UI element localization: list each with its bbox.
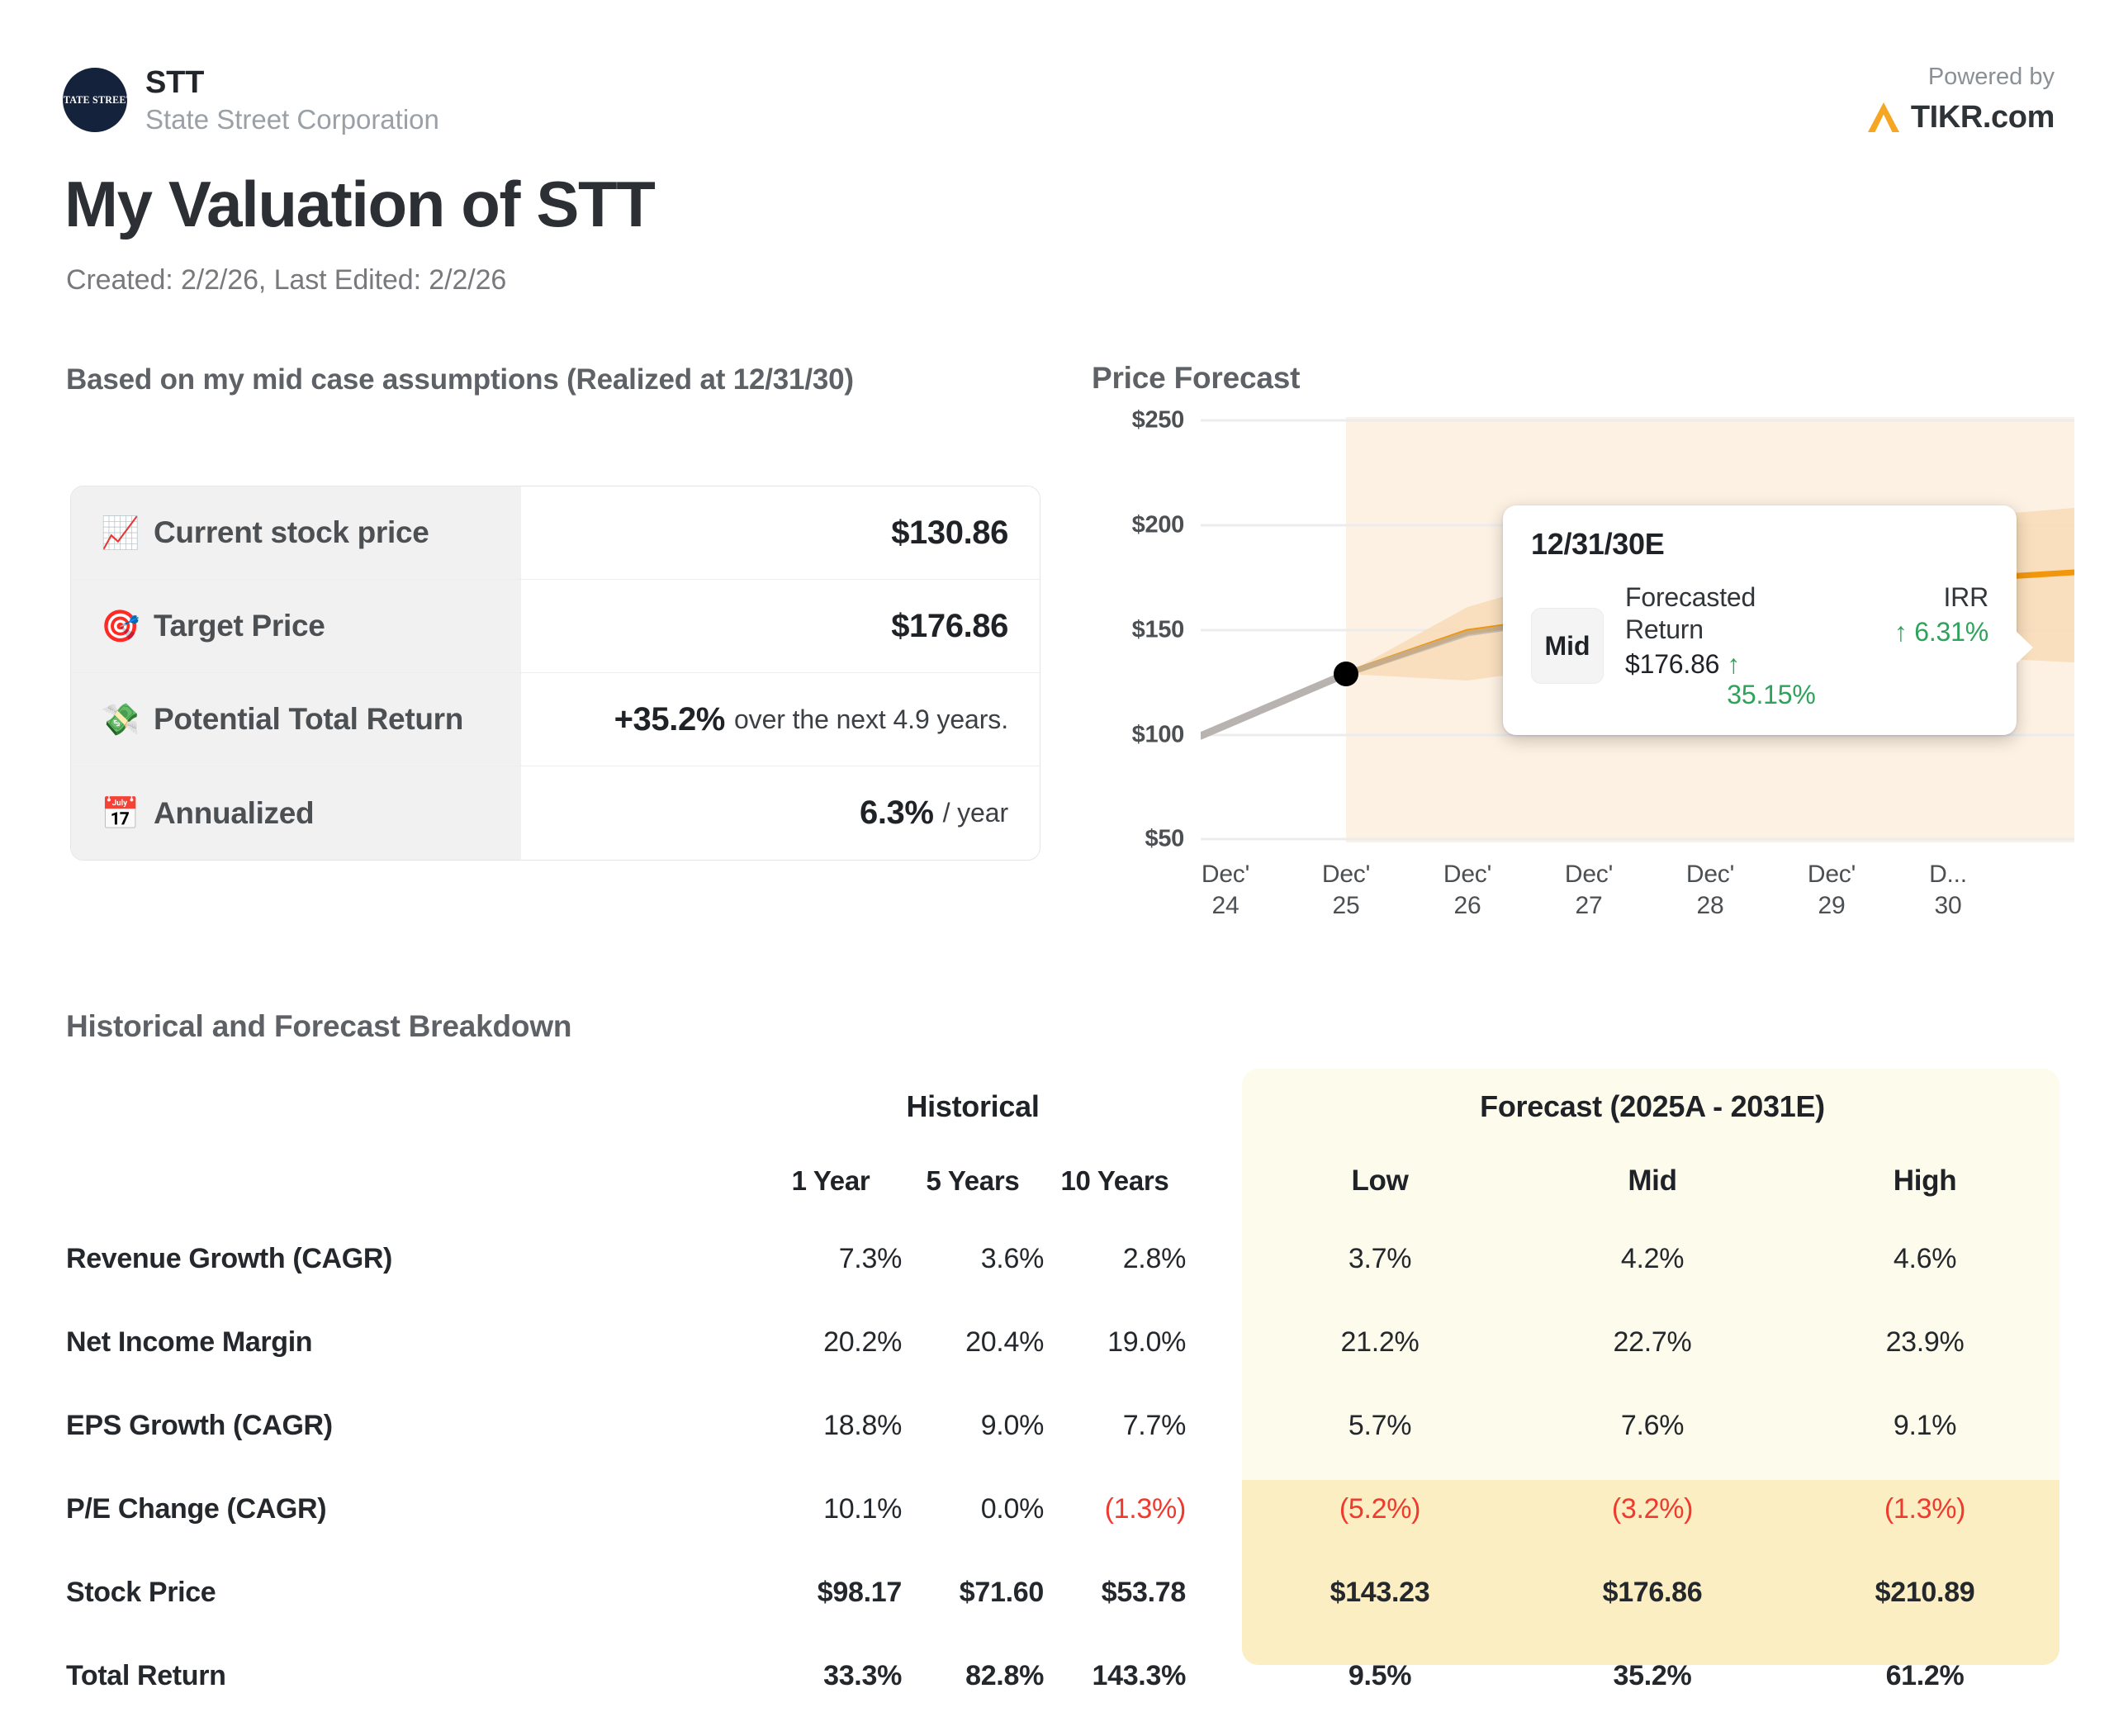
table-gap-cell: [1186, 1301, 1244, 1384]
historical-cell: 9.0%: [902, 1384, 1044, 1468]
chart-tooltip: 12/31/30E Mid Forecasted Return $176.86 …: [1503, 505, 2017, 735]
company-name: State Street Corporation: [145, 103, 439, 136]
table-row: Revenue Growth (CAGR)7.3%3.6%2.8%3.7%4.2…: [66, 1217, 2061, 1301]
historical-cell: 20.2%: [760, 1301, 902, 1384]
tooltip-target-price: $176.86: [1625, 649, 1719, 680]
historical-cell: 12.8%: [902, 1718, 1044, 1736]
valuation-report-page: STATE STREET STT State Street Corporatio…: [0, 0, 2114, 1736]
forecast-column-header: Low: [1244, 1145, 1516, 1217]
forecast-cell: 9.5%: [1244, 1634, 1516, 1718]
chart-x-tick: Dec'26: [1443, 859, 1491, 923]
chart-x-tick: D...30: [1929, 859, 1967, 923]
chart-x-tick: Dec'24: [1202, 859, 1249, 923]
breakdown-table: HistoricalForecast (2025A - 2031E)1 Year…: [66, 1069, 2061, 1736]
historical-cell: 10.1%: [760, 1468, 902, 1551]
row-label: P/E Change (CAGR): [66, 1468, 760, 1551]
forecast-cell: (3.2%): [1516, 1468, 1789, 1551]
historical-cell: 3.6%: [902, 1217, 1044, 1301]
valuation-row-value: 6.3%: [860, 794, 934, 832]
chart-x-tick-top: D...: [1929, 859, 1967, 890]
chart-y-tick: $200: [1132, 512, 1184, 539]
table-gap-cell: [1186, 1634, 1244, 1718]
tooltip-return-label: Forecasted Return: [1625, 581, 1833, 646]
chart-x-tick-top: Dec': [1686, 859, 1734, 890]
chart-x-tick-bottom: 24: [1202, 890, 1249, 922]
chart-x-tick: Dec'29: [1808, 859, 1856, 923]
forecast-cell: 7.6%: [1516, 1384, 1789, 1468]
historical-cell: 143.3%: [1044, 1634, 1186, 1718]
table-group-header-row: HistoricalForecast (2025A - 2031E): [66, 1069, 2061, 1145]
table-row: EPS Growth (CAGR)18.8%9.0%7.7%5.7%7.6%9.…: [66, 1384, 2061, 1468]
tooltip-irr: IRR ↑ 6.31%: [1833, 581, 1992, 710]
chart-x-tick: Dec'27: [1565, 859, 1613, 923]
historical-cell: (1.3%): [1044, 1468, 1186, 1551]
table-gap-cell: [1186, 1551, 1244, 1634]
valuation-row-value: $130.86: [891, 515, 1008, 552]
table-gap-cell: [1186, 1217, 1244, 1301]
historical-price-line: [1201, 674, 1346, 736]
forecast-column-header: Mid: [1516, 1145, 1789, 1217]
table-gap-cell: [1186, 1468, 1244, 1551]
table-row: Net Income Margin20.2%20.4%19.0%21.2%22.…: [66, 1301, 2061, 1384]
tooltip-return-pct: ↑ 35.15%: [1727, 649, 1833, 710]
price-forecast-heading: Price Forecast: [1092, 361, 1300, 396]
chart-y-tick: $100: [1132, 722, 1184, 749]
valuation-row: 📅Annualized6.3%/ year: [71, 766, 1040, 860]
table-row: P/E Change (CAGR)10.1%0.0%(1.3%)(5.2%)(3…: [66, 1468, 2061, 1551]
valuation-row-label-cell: 📈Current stock price: [71, 486, 521, 579]
historical-cell: 7.3%: [760, 1217, 902, 1301]
tikr-brand-name: TIKR.com: [1911, 100, 2055, 135]
historical-cell: 18.8%: [760, 1384, 902, 1468]
chart-x-tick-top: Dec': [1202, 859, 1249, 890]
chart-y-tick: $50: [1145, 826, 1185, 853]
forecast-cell: 4.6%: [1789, 1217, 2061, 1301]
table-corner-cell: [66, 1069, 760, 1145]
table-gap-cell: [1186, 1718, 1244, 1736]
company-logo-text: STATE STREET: [63, 94, 127, 106]
chart-x-tick-bottom: 28: [1686, 890, 1734, 922]
historical-column-header: 10 Years: [1044, 1145, 1186, 1217]
row-label: EPS Growth (CAGR): [66, 1384, 760, 1468]
tooltip-metrics: Forecasted Return $176.86 ↑ 35.15% IRR ↑…: [1625, 581, 1992, 710]
valuation-row-value-cell: +35.2%over the next 4.9 years.: [521, 673, 1040, 766]
valuation-row: 💸Potential Total Return+35.2%over the ne…: [71, 673, 1040, 766]
forecast-cell: 5.7%: [1244, 1384, 1516, 1468]
chart-x-tick-bottom: 25: [1322, 890, 1370, 922]
forecast-cell: 21.2%: [1244, 1301, 1516, 1384]
table-row: Stock Price$98.17$71.60$53.78$143.23$176…: [66, 1551, 2061, 1634]
historical-cell: 20.4%: [902, 1301, 1044, 1384]
powered-by-block: Powered by TIKR.com: [1866, 64, 2055, 135]
historical-cell: $71.60: [902, 1551, 1044, 1634]
historical-cell: $98.17: [760, 1551, 902, 1634]
chart-y-tick: $250: [1132, 407, 1184, 434]
tooltip-case-badge: Mid: [1531, 608, 1604, 684]
chart-x-axis: Dec'24Dec'25Dec'26Dec'27Dec'28Dec'29D...…: [1201, 859, 2074, 950]
valuation-row-suffix: over the next 4.9 years.: [734, 704, 1008, 735]
historical-cell: 0.0%: [902, 1468, 1044, 1551]
chart-x-tick-top: Dec': [1808, 859, 1856, 890]
forecast-cell: 9.1%: [1789, 1384, 2061, 1468]
forecast-column-header: High: [1789, 1145, 2061, 1217]
valuation-row-label: Potential Total Return: [154, 702, 463, 737]
chart-x-tick-top: Dec': [1322, 859, 1370, 890]
chart-x-tick-bottom: 30: [1929, 890, 1967, 922]
forecast-cell: 10.2%: [1789, 1718, 2061, 1736]
chart-y-axis: $250$200$150$100$50: [1092, 417, 1184, 842]
historical-cell: 82.8%: [902, 1634, 1044, 1718]
row-label: Total Return: [66, 1634, 760, 1718]
tooltip-body: Mid Forecasted Return $176.86 ↑ 35.15% I…: [1531, 581, 1992, 710]
historical-column-header: 5 Years: [902, 1145, 1044, 1217]
valuation-row-value-cell: 6.3%/ year: [521, 766, 1040, 860]
historical-cell: 9.3%: [1044, 1718, 1186, 1736]
historical-cell: $53.78: [1044, 1551, 1186, 1634]
forecast-cell: 4.2%: [1516, 1217, 1789, 1301]
historical-column-header: 1 Year: [760, 1145, 902, 1217]
valuation-row-label: Annualized: [154, 796, 314, 831]
forecast-cell: 22.7%: [1516, 1301, 1789, 1384]
tooltip-irr-label: IRR: [1943, 581, 1988, 614]
table-gap-cell: [1186, 1069, 1244, 1145]
valuation-row: 📈Current stock price$130.86: [71, 486, 1040, 580]
assumptions-heading: Based on my mid case assumptions (Realiz…: [66, 363, 854, 396]
forecast-cell: $210.89: [1789, 1551, 2061, 1634]
valuation-row-suffix: / year: [943, 798, 1008, 828]
table-gap-cell: [1186, 1384, 1244, 1468]
chart-x-tick-bottom: 27: [1565, 890, 1613, 922]
valuation-summary-card: 📈Current stock price$130.86🎯Target Price…: [70, 486, 1040, 861]
historical-cell: 2.8%: [1044, 1217, 1186, 1301]
forecast-cell: 6.3%: [1516, 1718, 1789, 1736]
forecast-cell: 61.2%: [1789, 1634, 2061, 1718]
table-row: IRR (Annual Return)33.3%12.8%9.3%1.9%6.3…: [66, 1718, 2061, 1736]
forecast-cell: $176.86: [1516, 1551, 1789, 1634]
ticker-symbol: STT: [145, 64, 439, 102]
valuation-row: 🎯Target Price$176.86: [71, 580, 1040, 673]
current-price-marker: [1334, 662, 1358, 686]
valuation-row-value-cell: $130.86: [521, 486, 1040, 579]
chart-x-tick-top: Dec': [1443, 859, 1491, 890]
target-icon: 🎯: [101, 610, 137, 642]
table-row: Total Return33.3%82.8%143.3%9.5%35.2%61.…: [66, 1634, 2061, 1718]
forecast-cell: $143.23: [1244, 1551, 1516, 1634]
chart-increasing-icon: 📈: [101, 517, 137, 548]
tikr-logo-icon: [1866, 101, 1901, 134]
table-subheader-row: 1 Year5 Years10 YearsLowMidHigh: [66, 1145, 2061, 1217]
money-with-wings-icon: 💸: [101, 704, 137, 735]
breakdown-table-wrap: HistoricalForecast (2025A - 2031E)1 Year…: [66, 1069, 2059, 1736]
valuation-row-label-cell: 💸Potential Total Return: [71, 673, 521, 766]
forecast-group-header: Forecast (2025A - 2031E): [1244, 1069, 2061, 1145]
chart-y-tick: $150: [1132, 617, 1184, 644]
historical-cell: 7.7%: [1044, 1384, 1186, 1468]
page-title: My Valuation of STT: [64, 172, 654, 236]
company-name-block: STT State Street Corporation: [145, 64, 439, 135]
row-label: Revenue Growth (CAGR): [66, 1217, 760, 1301]
table-gap-cell: [1186, 1145, 1244, 1217]
forecast-cell: 1.9%: [1244, 1718, 1516, 1736]
valuation-row-label: Current stock price: [154, 515, 429, 550]
tooltip-irr-values: ↑ 6.31%: [1894, 617, 1988, 647]
historical-cell: 19.0%: [1044, 1301, 1186, 1384]
row-label: Stock Price: [66, 1551, 760, 1634]
tooltip-return-values: $176.86 ↑ 35.15%: [1625, 649, 1833, 710]
valuation-row-value: $176.86: [891, 608, 1008, 645]
historical-cell: 33.3%: [760, 1634, 902, 1718]
row-label: IRR (Annual Return): [66, 1718, 760, 1736]
valuation-row-value: +35.2%: [614, 701, 725, 738]
historical-group-header: Historical: [760, 1069, 1186, 1145]
calendar-icon: 📅: [101, 798, 137, 829]
table-corner-cell: [66, 1145, 760, 1217]
valuation-row-label-cell: 📅Annualized: [71, 766, 521, 860]
chart-x-tick-bottom: 29: [1808, 890, 1856, 922]
page-subtitle: Created: 2/2/26, Last Edited: 2/2/26: [66, 264, 506, 296]
tooltip-forecasted-return: Forecasted Return $176.86 ↑ 35.15%: [1625, 581, 1833, 710]
tooltip-irr-pct: ↑ 6.31%: [1894, 617, 1988, 647]
forecast-cell: (5.2%): [1244, 1468, 1516, 1551]
row-label: Net Income Margin: [66, 1301, 760, 1384]
tikr-brand[interactable]: TIKR.com: [1866, 100, 2055, 135]
historical-cell: 33.3%: [760, 1718, 902, 1736]
company-logo: STATE STREET: [63, 68, 127, 132]
chart-x-tick: Dec'25: [1322, 859, 1370, 923]
valuation-row-label: Target Price: [154, 609, 325, 643]
breakdown-heading: Historical and Forecast Breakdown: [66, 1009, 571, 1044]
powered-by-label: Powered by: [1866, 64, 2055, 91]
forecast-cell: 23.9%: [1789, 1301, 2061, 1384]
forecast-cell: 3.7%: [1244, 1217, 1516, 1301]
valuation-row-value-cell: $176.86: [521, 580, 1040, 672]
forecast-cell: (1.3%): [1789, 1468, 2061, 1551]
tooltip-date: 12/31/30E: [1531, 527, 1992, 562]
chart-x-tick-top: Dec': [1565, 859, 1613, 890]
valuation-row-label-cell: 🎯Target Price: [71, 580, 521, 672]
chart-x-tick-bottom: 26: [1443, 890, 1491, 922]
company-identity: STATE STREET STT State Street Corporatio…: [63, 64, 439, 135]
chart-x-tick: Dec'28: [1686, 859, 1734, 923]
forecast-cell: 35.2%: [1516, 1634, 1789, 1718]
